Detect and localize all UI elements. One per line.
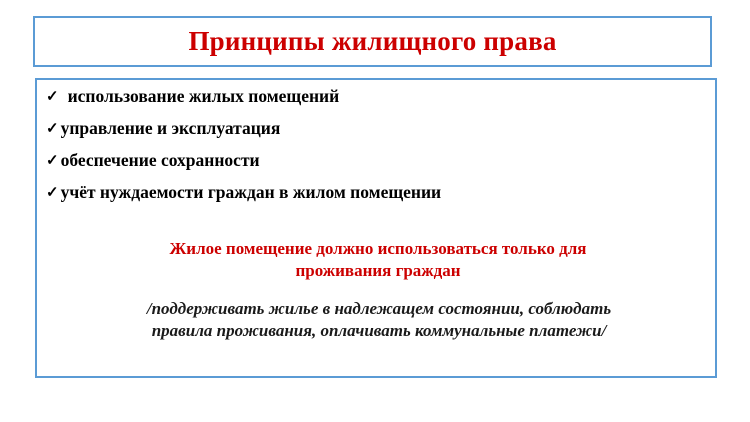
slide-canvas: Принципы жилищного права ✓ использование… bbox=[0, 0, 750, 422]
checkmark-icon: ✓ bbox=[46, 154, 59, 169]
page-title: Принципы жилищного права bbox=[188, 28, 556, 55]
list-item-label: обеспечение сохранности bbox=[61, 152, 260, 170]
italic-note-line-2: правила проживания, оплачивать коммуналь… bbox=[59, 320, 699, 342]
list-item-label: управление и эксплуатация bbox=[61, 120, 281, 138]
italic-note-line-1: /поддерживать жилье в надлежащем состоян… bbox=[59, 298, 699, 320]
list-item: ✓ управление и эксплуатация bbox=[46, 120, 686, 138]
red-emphasis-note: Жилое помещение должно использоваться то… bbox=[67, 238, 689, 282]
list-item: ✓ использование жилых помещений bbox=[46, 88, 686, 106]
content-box: ✓ использование жилых помещений ✓ управл… bbox=[35, 78, 717, 378]
checkmark-icon: ✓ bbox=[46, 122, 59, 137]
red-note-line-2: проживания граждан bbox=[67, 260, 689, 282]
list-item-label: использование жилых помещений bbox=[68, 88, 340, 106]
list-item: ✓ обеспечение сохранности bbox=[46, 152, 686, 170]
italic-footnote: /поддерживать жилье в надлежащем состоян… bbox=[59, 298, 699, 343]
list-item: ✓ учёт нуждаемости граждан в жилом помещ… bbox=[46, 184, 686, 202]
list-item-label: учёт нуждаемости граждан в жилом помещен… bbox=[61, 184, 442, 202]
title-box: Принципы жилищного права bbox=[33, 16, 712, 67]
checkmark-icon: ✓ bbox=[46, 186, 59, 201]
red-note-line-1: Жилое помещение должно использоваться то… bbox=[67, 238, 689, 260]
principles-list: ✓ использование жилых помещений ✓ управл… bbox=[46, 88, 686, 216]
checkmark-icon: ✓ bbox=[46, 90, 59, 105]
